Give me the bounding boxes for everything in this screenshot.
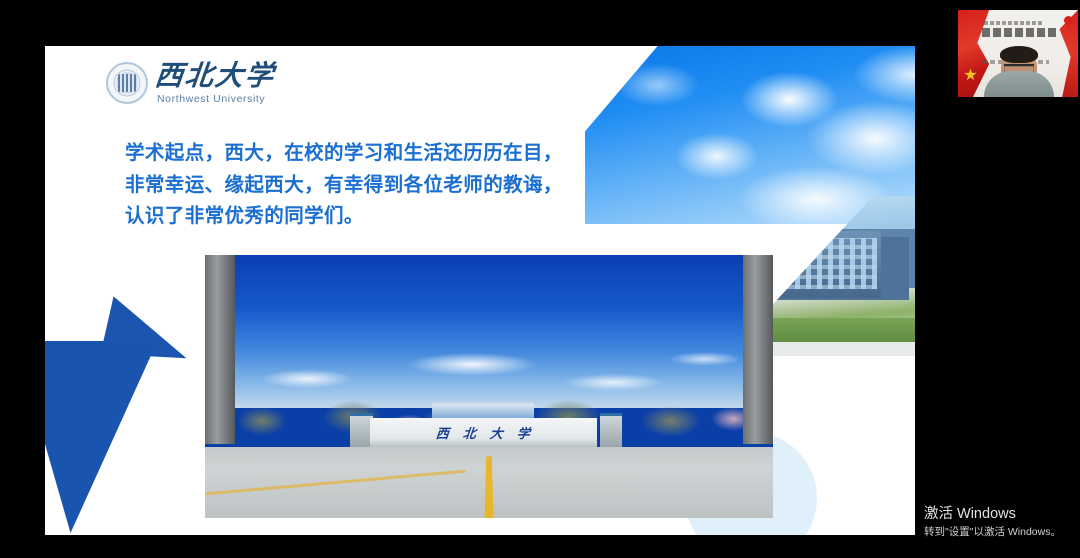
university-gate-photo: 西 北 大 学 xyxy=(205,255,773,518)
slide-body-line-1: 学术起点，西大，在校的学习和生活还历历在目， xyxy=(125,137,685,169)
windows-activation-watermark: 激活 Windows 转到"设置"以激活 Windows。 xyxy=(924,505,1061,539)
decorative-triangle-large xyxy=(45,341,213,533)
presentation-slide[interactable]: 西北大学 Northwest University 学术起点，西大，在校的学习和… xyxy=(45,46,915,535)
gate-char-2: 北 xyxy=(462,423,477,442)
logo-name-en: Northwest University xyxy=(155,94,275,105)
slide-body-line-3: 认识了非常优秀的同学们。 xyxy=(125,200,685,232)
presenter-torso xyxy=(984,71,1054,97)
gate-char-4: 学 xyxy=(516,423,531,442)
photo-guard-booth-right xyxy=(600,413,623,447)
gate-char-1: 西 xyxy=(435,423,450,442)
presenter-hair xyxy=(1000,46,1038,63)
photo-pillar-right xyxy=(743,255,773,444)
logo-name-cn: 西北大学 xyxy=(154,62,277,90)
banner-title-text xyxy=(982,28,1056,37)
slide-body-text: 学术起点，西大，在校的学习和生活还历历在目， 非常幸运、缘起西大，有幸得到各位老… xyxy=(125,137,685,232)
watermark-subtitle: 转到"设置"以激活 Windows。 xyxy=(924,525,1061,539)
university-logo: 西北大学 Northwest University xyxy=(106,62,275,105)
university-seal-icon xyxy=(106,62,148,104)
watermark-title: 激活 Windows xyxy=(924,505,1061,523)
banner-subtitle-text xyxy=(984,21,1042,25)
presenter-video-thumbnail[interactable] xyxy=(958,10,1078,97)
screen-share-view: 西北大学 Northwest University 学术起点，西大，在校的学习和… xyxy=(0,0,1080,558)
slide-body-line-2: 非常幸运、缘起西大，有幸得到各位老师的教诲， xyxy=(125,169,685,201)
gate-char-3: 大 xyxy=(489,423,504,442)
presenter-figure xyxy=(992,48,1047,97)
logo-text-block: 西北大学 Northwest University xyxy=(155,62,275,105)
photo-pillar-left xyxy=(205,255,235,444)
photo-gate-wall: 西 北 大 学 xyxy=(370,418,597,447)
